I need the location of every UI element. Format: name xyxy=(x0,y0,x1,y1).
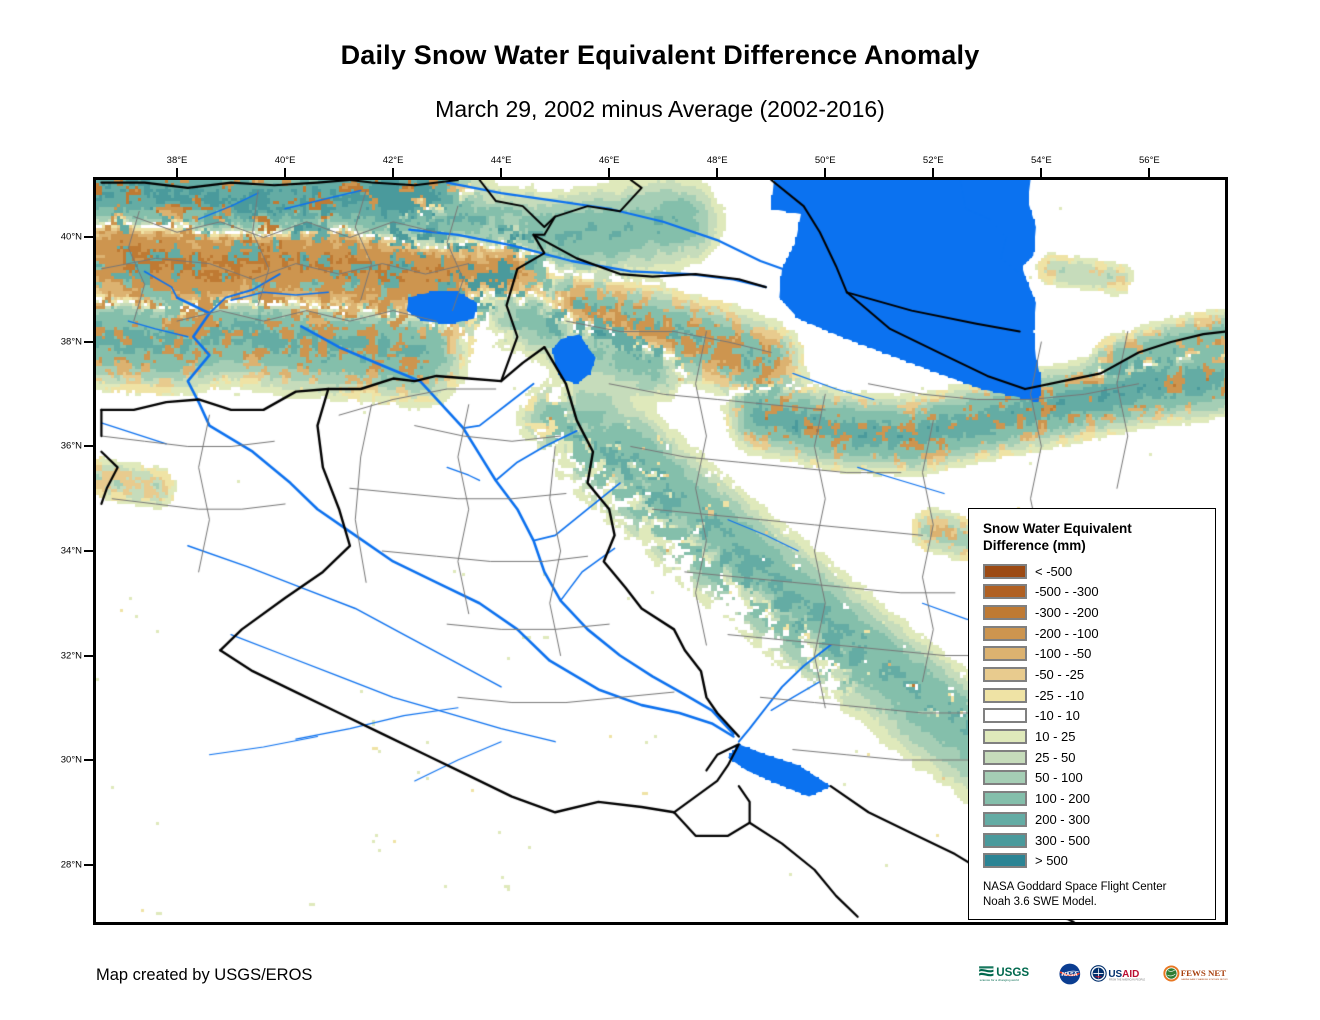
lon-tick-label: 56°E xyxy=(1139,155,1160,166)
legend-class-list: < -500-500 - -300-300 - -200-200 - -100-… xyxy=(983,561,1205,871)
legend-row: -50 - -25 xyxy=(983,664,1205,685)
lat-tick-mark xyxy=(84,445,93,447)
lon-tick-mark xyxy=(500,168,502,177)
legend-swatch xyxy=(983,626,1027,641)
legend-panel: Snow Water Equivalent Difference (mm) < … xyxy=(968,508,1216,920)
lon-tick-label: 52°E xyxy=(923,155,944,166)
legend-row: 50 - 100 xyxy=(983,768,1205,789)
legend-row: 300 - 500 xyxy=(983,830,1205,851)
legend-row: -300 - -200 xyxy=(983,602,1205,623)
lon-tick-mark xyxy=(392,168,394,177)
legend-label: 10 - 25 xyxy=(1035,729,1075,744)
legend-swatch xyxy=(983,584,1027,599)
lat-tick-mark xyxy=(84,759,93,761)
lat-tick-label: 40°N xyxy=(40,232,82,243)
lat-tick-label: 28°N xyxy=(40,859,82,870)
svg-text:NASA: NASA xyxy=(1062,972,1078,978)
legend-row: -500 - -300 xyxy=(983,581,1205,602)
lon-tick-mark xyxy=(1040,168,1042,177)
legend-row: 25 - 50 xyxy=(983,747,1205,768)
lat-tick-label: 30°N xyxy=(40,755,82,766)
usgs-logo: USGS science for a changing world xyxy=(978,959,1050,989)
lon-tick-mark xyxy=(932,168,934,177)
lat-tick-label: 32°N xyxy=(40,650,82,661)
legend-swatch xyxy=(983,770,1027,785)
legend-row: -200 - -100 xyxy=(983,623,1205,644)
lon-tick-mark xyxy=(716,168,718,177)
legend-row: -10 - 10 xyxy=(983,706,1205,727)
lon-tick-mark xyxy=(284,168,286,177)
legend-label: 200 - 300 xyxy=(1035,812,1090,827)
legend-label: -25 - -10 xyxy=(1035,688,1084,703)
svg-text:USGS: USGS xyxy=(996,966,1029,979)
lat-tick-mark xyxy=(84,550,93,552)
legend-label: -100 - -50 xyxy=(1035,646,1091,661)
legend-label: -50 - -25 xyxy=(1035,667,1084,682)
legend-swatch xyxy=(983,833,1027,848)
legend-swatch xyxy=(983,791,1027,806)
legend-label: -200 - -100 xyxy=(1035,626,1099,641)
legend-swatch xyxy=(983,688,1027,703)
legend-row: 200 - 300 xyxy=(983,809,1205,830)
svg-text:FAMINE EARLY WARNING SYSTEMS N: FAMINE EARLY WARNING SYSTEMS NETWORK xyxy=(1181,978,1228,981)
legend-row: 100 - 200 xyxy=(983,788,1205,809)
lon-tick-label: 46°E xyxy=(599,155,620,166)
page-subtitle: March 29, 2002 minus Average (2002-2016) xyxy=(0,96,1320,123)
legend-source-note: NASA Goddard Space Flight Center Noah 3.… xyxy=(983,880,1205,910)
svg-text:FEWS NET: FEWS NET xyxy=(1180,968,1225,978)
lon-tick-label: 40°E xyxy=(275,155,296,166)
legend-row: -100 - -50 xyxy=(983,644,1205,665)
usaid-logo: USAID FROM THE AMERICAN PEOPLE xyxy=(1089,959,1155,989)
legend-label: 50 - 100 xyxy=(1035,770,1083,785)
legend-label: -500 - -300 xyxy=(1035,584,1099,599)
legend-label: -300 - -200 xyxy=(1035,605,1099,620)
legend-swatch xyxy=(983,729,1027,744)
lat-tick-mark xyxy=(84,236,93,238)
lon-tick-label: 42°E xyxy=(383,155,404,166)
svg-text:FROM THE AMERICAN PEOPLE: FROM THE AMERICAN PEOPLE xyxy=(1109,979,1146,982)
legend-title-line2: Difference (mm) xyxy=(983,538,1205,555)
lat-tick-mark xyxy=(84,864,93,866)
fews-net-logo: FEWS NET FAMINE EARLY WARNING SYSTEMS NE… xyxy=(1162,959,1228,989)
legend-swatch xyxy=(983,646,1027,661)
lat-tick-label: 34°N xyxy=(40,546,82,557)
lon-tick-label: 50°E xyxy=(815,155,836,166)
lon-tick-mark xyxy=(1148,168,1150,177)
legend-swatch xyxy=(983,750,1027,765)
legend-source-line2: Noah 3.6 SWE Model. xyxy=(983,895,1205,910)
nasa-logo: NASA xyxy=(1056,959,1084,989)
legend-label: -10 - 10 xyxy=(1035,708,1080,723)
legend-row: < -500 xyxy=(983,561,1205,582)
lat-tick-mark xyxy=(84,341,93,343)
legend-swatch xyxy=(983,708,1027,723)
legend-swatch xyxy=(983,667,1027,682)
legend-row: -25 - -10 xyxy=(983,685,1205,706)
legend-label: > 500 xyxy=(1035,853,1068,868)
lon-tick-mark xyxy=(608,168,610,177)
lon-tick-label: 44°E xyxy=(491,155,512,166)
legend-row: 10 - 25 xyxy=(983,726,1205,747)
legend-label: 25 - 50 xyxy=(1035,750,1075,765)
legend-title-line1: Snow Water Equivalent xyxy=(983,521,1205,538)
legend-row: > 500 xyxy=(983,850,1205,871)
svg-text:science for a changing world: science for a changing world xyxy=(980,978,1019,982)
page-title: Daily Snow Water Equivalent Difference A… xyxy=(0,40,1320,71)
legend-swatch xyxy=(983,605,1027,620)
lon-tick-label: 48°E xyxy=(707,155,728,166)
map-page: Daily Snow Water Equivalent Difference A… xyxy=(0,0,1320,1020)
legend-source-line1: NASA Goddard Space Flight Center xyxy=(983,880,1205,895)
legend-title: Snow Water Equivalent Difference (mm) xyxy=(983,521,1205,555)
lon-tick-mark xyxy=(824,168,826,177)
legend-label: 300 - 500 xyxy=(1035,833,1090,848)
legend-swatch xyxy=(983,853,1027,868)
lon-tick-label: 38°E xyxy=(167,155,188,166)
lat-tick-label: 36°N xyxy=(40,441,82,452)
legend-label: < -500 xyxy=(1035,564,1072,579)
lat-tick-mark xyxy=(84,655,93,657)
legend-swatch xyxy=(983,564,1027,579)
lat-tick-label: 38°N xyxy=(40,336,82,347)
lon-tick-label: 54°E xyxy=(1031,155,1052,166)
lon-tick-mark xyxy=(176,168,178,177)
agency-logo-bar: USGS science for a changing world NASA U… xyxy=(978,956,1228,992)
legend-label: 100 - 200 xyxy=(1035,791,1090,806)
legend-swatch xyxy=(983,812,1027,827)
map-credit: Map created by USGS/EROS xyxy=(96,966,312,985)
